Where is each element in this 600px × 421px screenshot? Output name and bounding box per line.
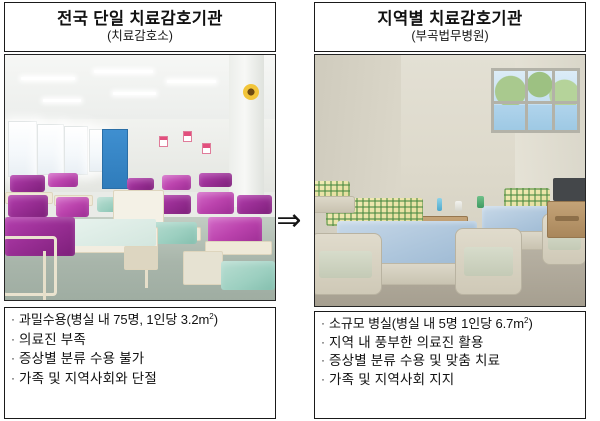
window	[8, 121, 37, 177]
list-item: ·증상별 분류 수용 및 맞춤 치료	[321, 354, 581, 368]
window-mullion	[552, 71, 555, 130]
fluorescent-light	[167, 80, 216, 83]
window	[491, 68, 580, 133]
bullet-marker: ·	[11, 372, 19, 384]
under-bed-drawer	[124, 246, 158, 270]
left-panel: 전국 단일 치료감호기관 (치료감호소)	[4, 2, 276, 419]
bullet-marker: ·	[321, 373, 329, 385]
bullet-text: 지역 내 풍부한 의료진 활용	[329, 335, 484, 350]
list-item: ·증상별 분류 수용 불가	[11, 352, 271, 366]
bed-rail	[5, 236, 57, 296]
cup	[455, 201, 462, 211]
bullet-tail: )	[214, 312, 218, 327]
equipment-monitor	[553, 178, 585, 201]
list-item: ·의료진 부족	[11, 333, 271, 347]
bullet-text: 의료진 부족	[19, 332, 86, 347]
right-photo-box	[314, 54, 586, 307]
crowded-ward-photo	[5, 55, 275, 300]
left-title-sub: (치료감호소)	[107, 30, 173, 44]
bed-blanket	[199, 173, 231, 188]
list-item: ·과밀수용(병실 내 75명, 1인당 3.2m2)	[11, 313, 271, 327]
bullet-tail: )	[528, 316, 532, 331]
bullet-text: 증상별 분류 수용 및 맞춤 치료	[329, 353, 500, 368]
bullet-text: 과밀수용(병실 내 75명, 1인당 3.2m	[19, 312, 209, 327]
bullet-text: 소규모 병실(병실 내 5명 1인당 6.7m	[329, 316, 524, 331]
green-cup	[477, 196, 484, 208]
left-photo-box	[4, 54, 276, 301]
bed-blanket	[197, 192, 235, 214]
wall-sign	[202, 143, 211, 154]
window-foliage	[494, 71, 577, 105]
nightstand	[547, 201, 585, 238]
rightwards-double-arrow-icon: ⇒	[268, 200, 310, 242]
wall-sign	[183, 131, 192, 142]
bed-blanket	[162, 175, 192, 190]
bed-blanket	[127, 178, 154, 190]
bullet-marker: ·	[11, 352, 19, 364]
bullet-text: 증상별 분류 수용 불가	[19, 351, 144, 366]
bed-post	[43, 251, 46, 300]
infographic-root: 전국 단일 치료감호기관 (치료감호소)	[0, 0, 600, 421]
left-bullet-list: ·과밀수용(병실 내 75명, 1인당 3.2m2) ·의료진 부족 ·증상별 …	[4, 307, 276, 419]
ward-door	[102, 129, 128, 190]
window	[64, 126, 88, 175]
bullet-marker: ·	[11, 333, 19, 345]
fluorescent-light	[113, 92, 156, 95]
window-mullion	[525, 71, 528, 130]
window	[37, 124, 63, 175]
right-title-main: 지역별 치료감호기관	[377, 11, 522, 28]
right-panel: 지역별 치료감호기관 (부곡법무병원)	[314, 2, 586, 419]
bed-rail	[315, 233, 382, 295]
bed-blanket	[10, 175, 45, 192]
bullet-text: 가족 및 지역사회와 단절	[19, 371, 157, 386]
fluorescent-light	[43, 99, 81, 102]
bed-blanket	[56, 197, 88, 217]
bed-blanket	[221, 261, 275, 290]
bullet-marker: ·	[321, 317, 329, 329]
bed-rail	[455, 228, 522, 295]
chair	[183, 251, 223, 285]
small-room-photo	[315, 55, 585, 306]
bed-sheet	[64, 219, 156, 246]
bed-blanket	[8, 195, 49, 217]
list-item: ·가족 및 지역사회 지지	[321, 373, 581, 387]
right-bullet-list: ·소규모 병실(병실 내 5명 1인당 6.7m2) ·지역 내 풍부한 의료진…	[314, 311, 586, 419]
bed-base	[315, 196, 355, 213]
bullet-text: 가족 및 지역사회 지지	[329, 372, 454, 387]
bullet-marker: ·	[321, 354, 329, 366]
bed-blanket	[48, 173, 78, 188]
list-item: ·가족 및 지역사회와 단절	[11, 372, 271, 386]
wall-sign	[159, 136, 168, 147]
ceiling-column	[229, 55, 264, 207]
list-item: ·소규모 병실(병실 내 5명 1인당 6.7m2)	[321, 317, 581, 331]
left-title-main: 전국 단일 치료감호기관	[57, 11, 223, 28]
bullet-marker: ·	[321, 336, 329, 348]
right-title-sub: (부곡법무병원)	[411, 30, 488, 44]
bullet-marker: ·	[11, 313, 19, 325]
right-title-box: 지역별 치료감호기관 (부곡법무병원)	[314, 2, 586, 52]
window-mullion	[494, 101, 577, 104]
bed-blanket	[208, 217, 262, 244]
water-bottle	[437, 198, 442, 211]
left-title-box: 전국 단일 치료감호기관 (치료감호소)	[4, 2, 276, 52]
fluorescent-light	[94, 70, 153, 73]
list-item: ·지역 내 풍부한 의료진 활용	[321, 336, 581, 350]
fluorescent-light	[21, 77, 75, 80]
